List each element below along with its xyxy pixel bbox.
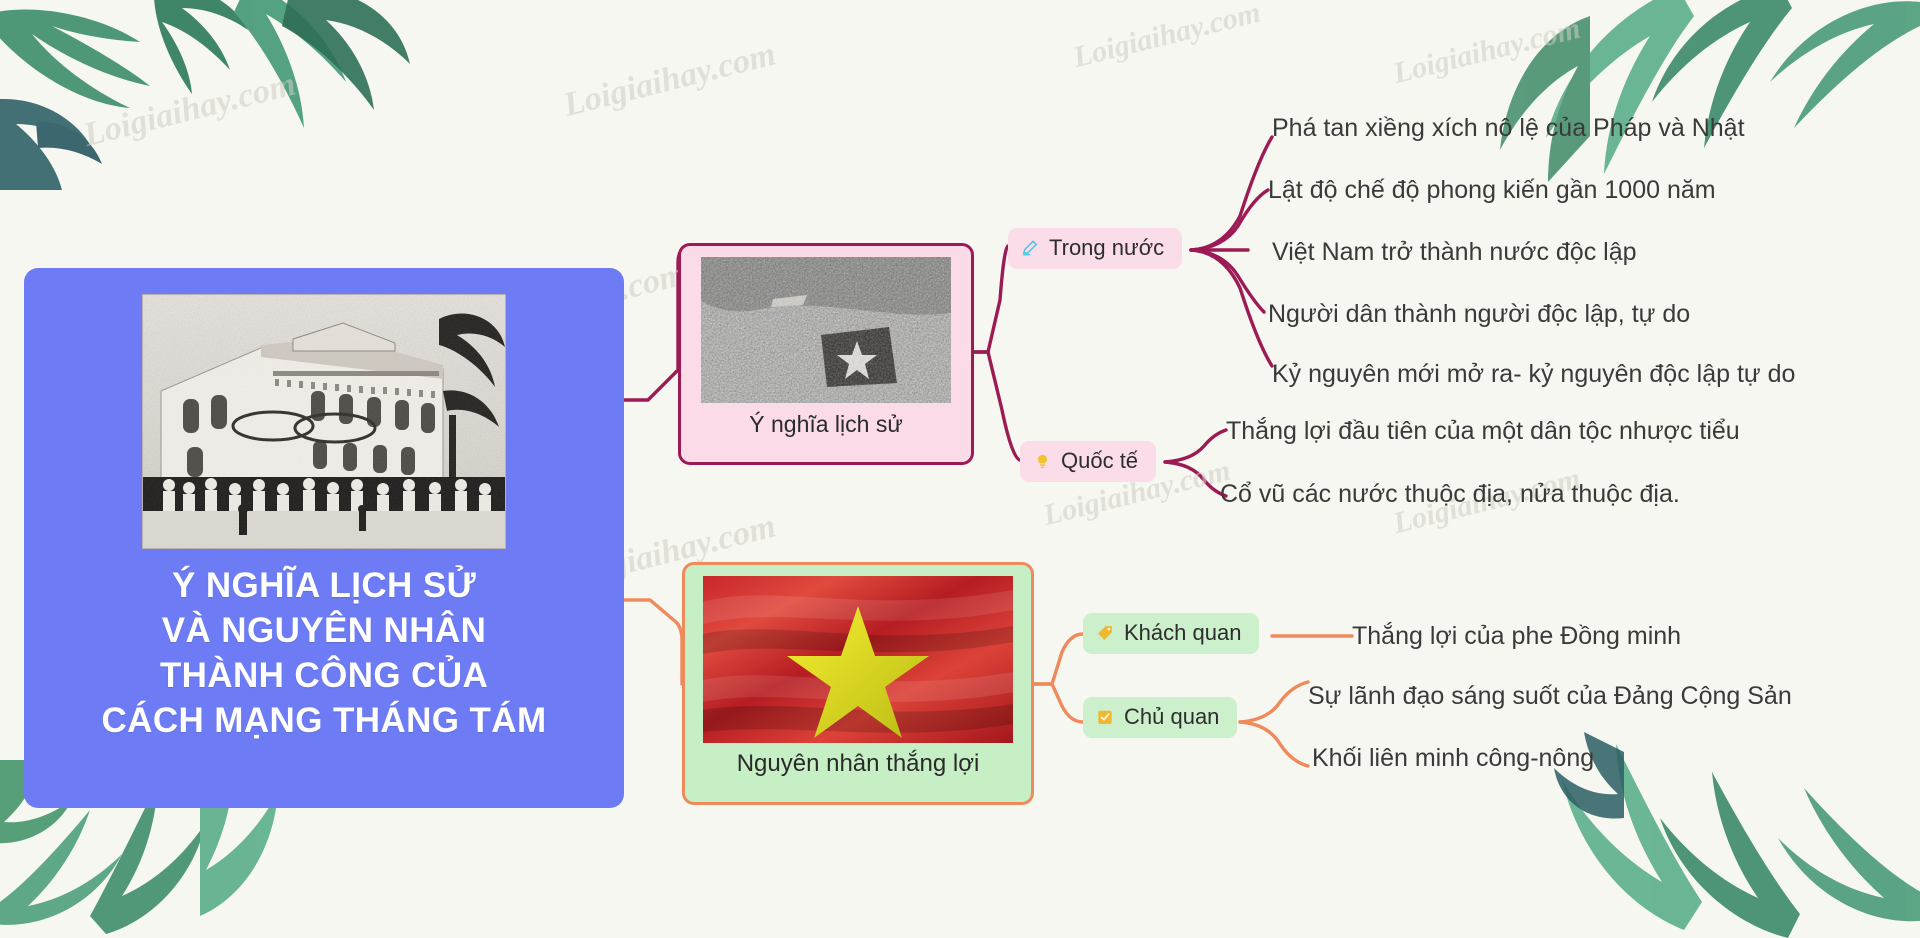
leaf-item[interactable]: Phá tan xiềng xích nô lệ của Pháp và Nhậ…	[1272, 112, 1745, 144]
tropical-leaf-decoration-top-left	[0, 0, 410, 192]
group-label-chu-quan: Chủ quan	[1124, 704, 1219, 730]
branch-label-y-nghia-lich-su: Ý nghĩa lịch sử	[749, 409, 902, 439]
leaf-item[interactable]: Cổ vũ các nước thuộc địa, nửa thuộc địa.	[1220, 478, 1680, 510]
group-label-trong-nuoc: Trong nước	[1049, 235, 1164, 261]
branch-card-y-nghia-lich-su[interactable]: Ý nghĩa lịch sử	[678, 243, 974, 465]
watermark: Loigiaihay.com	[560, 36, 780, 125]
root-title-line-1: Ý NGHĨA LỊCH SỬ	[101, 563, 546, 608]
lightbulb-icon	[1032, 451, 1052, 471]
leaf-item[interactable]: Việt Nam trở thành nước độc lập	[1272, 236, 1637, 268]
leaf-item[interactable]: Người dân thành người độc lập, tự do	[1268, 298, 1690, 330]
leaf-item[interactable]: Thắng lợi của phe Đồng minh	[1352, 620, 1681, 652]
pencil-icon	[1020, 238, 1040, 258]
branch-label-nguyen-nhan-thang-loi: Nguyên nhân thắng lợi	[737, 749, 980, 779]
group-pill-chu-quan[interactable]: Chủ quan	[1083, 697, 1237, 738]
watermark: Loigiaihay.com	[80, 66, 300, 155]
group-pill-quoc-te[interactable]: Quốc tế	[1020, 441, 1156, 482]
group-label-quoc-te: Quốc tế	[1061, 448, 1138, 474]
checklist-icon	[1095, 707, 1115, 727]
watermark: Loigiaihay.com	[1390, 12, 1584, 91]
root-title-line-2: VÀ NGUYÊN NHÂN	[101, 608, 546, 653]
root-title-line-3: THÀNH CÔNG CỦA	[101, 653, 546, 698]
leaf-item[interactable]: Khối liên minh công-nông	[1312, 742, 1594, 774]
crowd-photo-graphic	[701, 257, 951, 403]
tropical-leaf-decoration-bottom-right	[1554, 723, 1920, 938]
leaf-item[interactable]: Lật độ chế độ phong kiến gần 1000 năm	[1268, 174, 1716, 206]
leaf-item[interactable]: Kỷ nguyên mới mở ra- kỷ nguyên độc lập t…	[1272, 358, 1795, 390]
mindmap-canvas: Loigiaihay.com Loigiaihay.com Loigiaihay…	[0, 0, 1920, 920]
root-title-line-4: CÁCH MẠNG THÁNG TÁM	[101, 698, 546, 743]
page-title: Ý NGHĨA LỊCH SỬ VÀ NGUYÊN NHÂN THÀNH CÔN…	[101, 563, 546, 743]
root-photo	[142, 294, 506, 549]
tag-icon	[1095, 623, 1115, 643]
branch-card-nguyen-nhan-thang-loi[interactable]: Nguyên nhân thắng lợi	[682, 562, 1034, 805]
crowd-with-flag-photo	[701, 257, 951, 403]
historic-building-photo	[143, 295, 505, 548]
group-pill-trong-nuoc[interactable]: Trong nước	[1008, 228, 1182, 269]
watermark: Loigiaihay.com	[1070, 0, 1264, 75]
vietnam-flag-graphic	[703, 576, 1013, 743]
group-pill-khach-quan[interactable]: Khách quan	[1083, 613, 1259, 654]
leaf-item[interactable]: Sự lãnh đạo sáng suốt của Đảng Cộng Sản	[1308, 680, 1792, 712]
leaf-item[interactable]: Thắng lợi đầu tiên của một dân tộc nhược…	[1226, 415, 1740, 447]
tropical-leaf-decoration-top-right	[1500, 0, 1920, 201]
vietnam-flag-photo	[703, 576, 1013, 743]
group-label-khach-quan: Khách quan	[1124, 620, 1241, 646]
root-node[interactable]: Ý NGHĨA LỊCH SỬ VÀ NGUYÊN NHÂN THÀNH CÔN…	[24, 268, 624, 808]
